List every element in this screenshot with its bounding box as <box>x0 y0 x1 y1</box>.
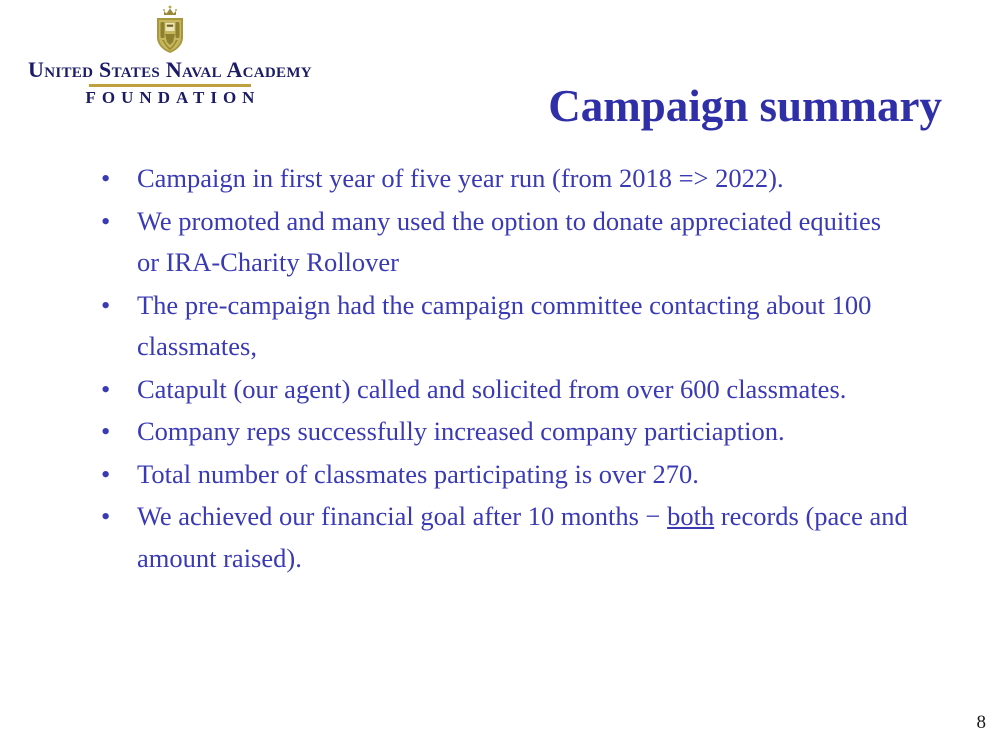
list-item: • The pre-campaign had the campaign comm… <box>96 285 908 368</box>
list-item: • We promoted and many used the option t… <box>96 201 908 284</box>
list-item-text: Company reps successfully increased comp… <box>137 416 785 446</box>
bullet-marker-icon: • <box>101 158 117 200</box>
list-item-text: We promoted and many used the option to … <box>137 206 881 278</box>
page-title: Campaign summary <box>548 82 942 132</box>
bullet-list: • Campaign in first year of five year ru… <box>96 158 908 580</box>
list-item-text: The pre-campaign had the campaign commit… <box>137 290 871 362</box>
list-item: • Total number of classmates participati… <box>96 454 908 496</box>
bullet-marker-icon: • <box>101 496 117 538</box>
naval-academy-crest-icon <box>150 4 190 56</box>
slide-canvas: { "logo": { "crest_icon": "naval-academy… <box>0 0 1000 750</box>
list-item: • Catapult (our agent) called and solici… <box>96 369 908 411</box>
organization-logo: United States Naval Academy FOUNDATION <box>10 4 330 107</box>
bullet-marker-icon: • <box>101 411 117 453</box>
bullet-marker-icon: • <box>101 454 117 496</box>
bullet-marker-icon: • <box>101 369 117 411</box>
list-item-text: Total number of classmates participating… <box>137 459 699 489</box>
list-item: • We achieved our financial goal after 1… <box>96 496 908 579</box>
logo-gold-rule <box>89 84 251 87</box>
list-item-text: Catapult (our agent) called and solicite… <box>137 374 846 404</box>
list-item: • Company reps successfully increased co… <box>96 411 908 453</box>
bullet-marker-icon: • <box>101 201 117 243</box>
logo-line-foundation: FOUNDATION <box>10 89 330 107</box>
list-item-text: We achieved our financial goal after 10 … <box>137 501 908 573</box>
logo-line-academy: United States Naval Academy <box>10 58 330 81</box>
page-number: 8 <box>977 713 987 732</box>
bullet-marker-icon: • <box>101 285 117 327</box>
list-item-text: Campaign in first year of five year run … <box>137 163 784 193</box>
list-item: • Campaign in first year of five year ru… <box>96 158 908 200</box>
